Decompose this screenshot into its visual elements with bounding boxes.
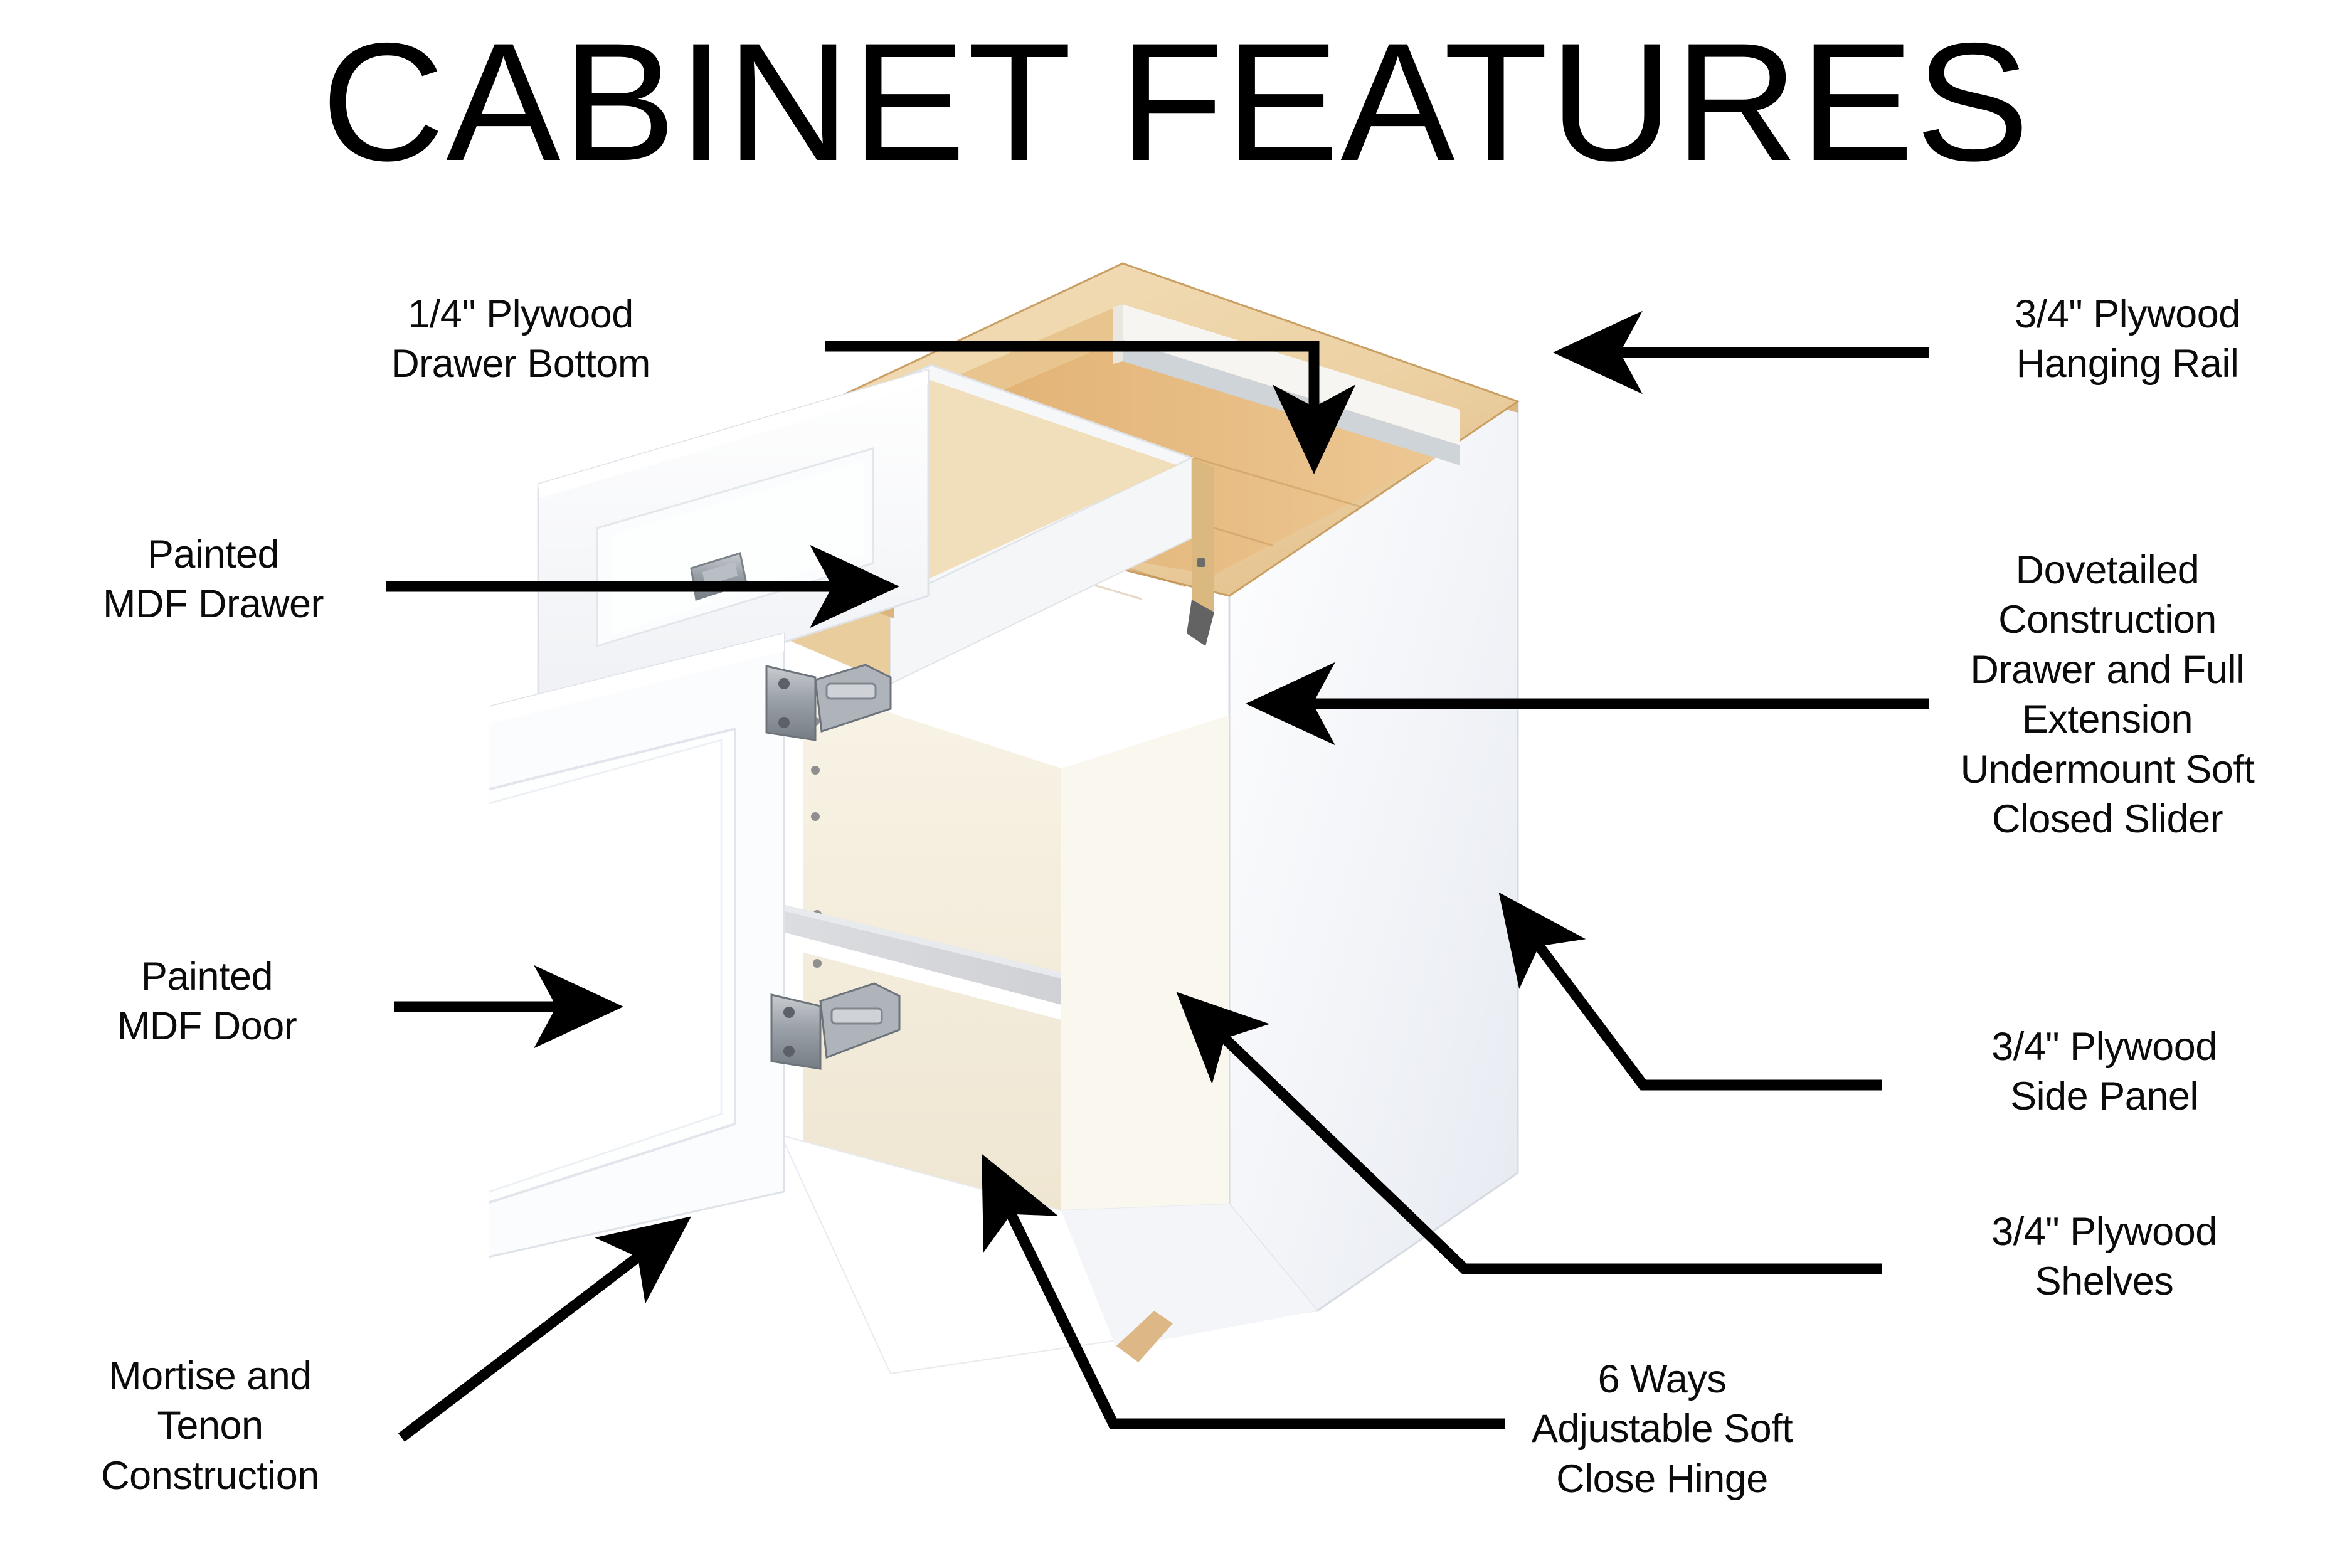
callout-side-panel: 3/4" Plywood Side Panel [1894,1022,2314,1122]
callout-painted-mdf-drawer: Painted MDF Drawer [38,530,389,630]
callout-mortise-tenon: Mortise and Tenon Construction [28,1352,392,1501]
page-title: CABINET FEATURES [0,18,2352,186]
callout-drawer-bottom: 1/4" Plywood Drawer Bottom [326,290,715,389]
cabinet-illustration [489,245,1744,1436]
painted-mdf-door [489,633,784,1292]
callout-hanging-rail: 3/4" Plywood Hanging Rail [1939,290,2316,389]
callout-painted-mdf-door: Painted MDF Door [44,952,370,1052]
infographic-canvas: CABINET FEATURES [0,0,2352,1568]
callout-dovetailed-construction: Dovetailed Construction Drawer and Full … [1891,546,2324,844]
callout-soft-close-hinge: 6 Ways Adjustable Soft Close Hinge [1443,1355,1882,1504]
callout-shelves: 3/4" Plywood Shelves [1894,1207,2314,1307]
